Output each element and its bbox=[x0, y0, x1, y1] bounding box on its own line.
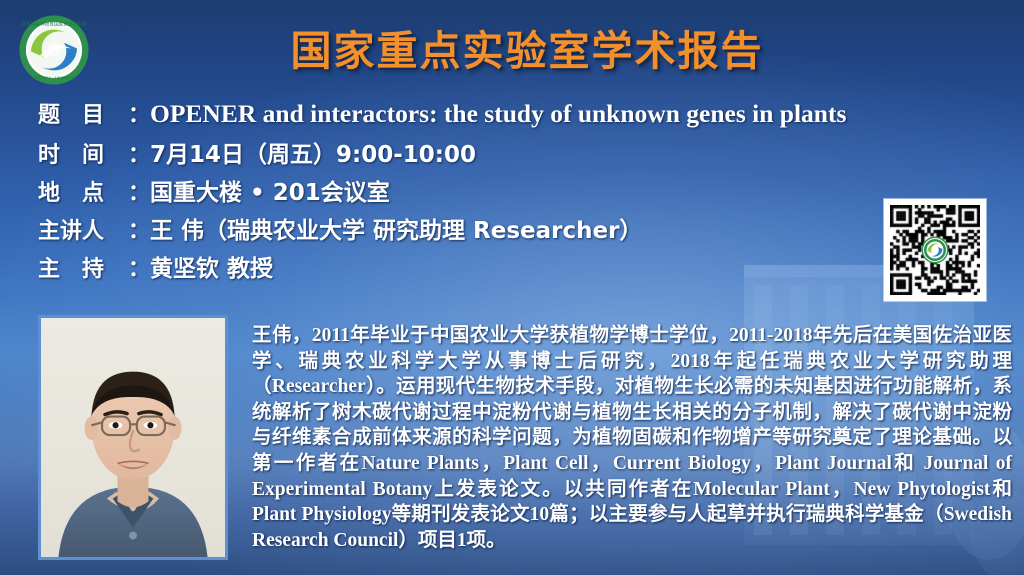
info-row-topic: 题 目： OPENER and interactors: the study o… bbox=[38, 97, 998, 135]
value-time: 7月14日（周五）9:00-10:00 bbox=[150, 135, 476, 169]
bio-speaker-name: 王伟 bbox=[252, 323, 292, 346]
label-location: 地 点： bbox=[38, 175, 150, 207]
poster-header: 亚热带森林培育国家重点实验室 STATE KEY LABORATORY 国家重点… bbox=[0, 0, 1024, 92]
speaker-photo bbox=[38, 315, 228, 560]
value-topic: OPENER and interactors: the study of unk… bbox=[150, 99, 846, 129]
label-time: 时 间： bbox=[38, 137, 150, 169]
info-row-speaker: 主讲人： 王 伟（瑞典农业大学 研究助理 Researcher） bbox=[38, 211, 998, 249]
poster-title: 国家重点实验室学术报告 bbox=[0, 17, 1024, 77]
info-row-time: 时 间： 7月14日（周五）9:00-10:00 bbox=[38, 135, 998, 173]
value-host: 黄坚钦 教授 bbox=[150, 249, 273, 283]
bio-text: ，2011年毕业于中国农业大学获植物学博士学位，2011-2018年先后在美国佐… bbox=[252, 325, 1012, 551]
info-block: 题 目： OPENER and interactors: the study o… bbox=[38, 97, 998, 287]
label-host: 主 持： bbox=[38, 251, 150, 283]
info-row-host: 主 持： 黄坚钦 教授 bbox=[38, 249, 998, 287]
value-speaker: 王 伟（瑞典农业大学 研究助理 Researcher） bbox=[150, 211, 642, 245]
value-location: 国重大楼 • 201会议室 bbox=[150, 173, 390, 207]
qr-center-logo-icon bbox=[923, 238, 947, 262]
wechat-qr-code[interactable] bbox=[884, 199, 986, 301]
speaker-bio: 王伟，2011年毕业于中国农业大学获植物学博士学位，2011-2018年先后在美… bbox=[252, 322, 1012, 553]
label-topic: 题 目： bbox=[38, 97, 150, 129]
seminar-poster: 亚热带森林培育国家重点实验室 STATE KEY LABORATORY 国家重点… bbox=[0, 0, 1024, 575]
label-speaker: 主讲人： bbox=[38, 213, 150, 245]
info-row-location: 地 点： 国重大楼 • 201会议室 bbox=[38, 173, 998, 211]
